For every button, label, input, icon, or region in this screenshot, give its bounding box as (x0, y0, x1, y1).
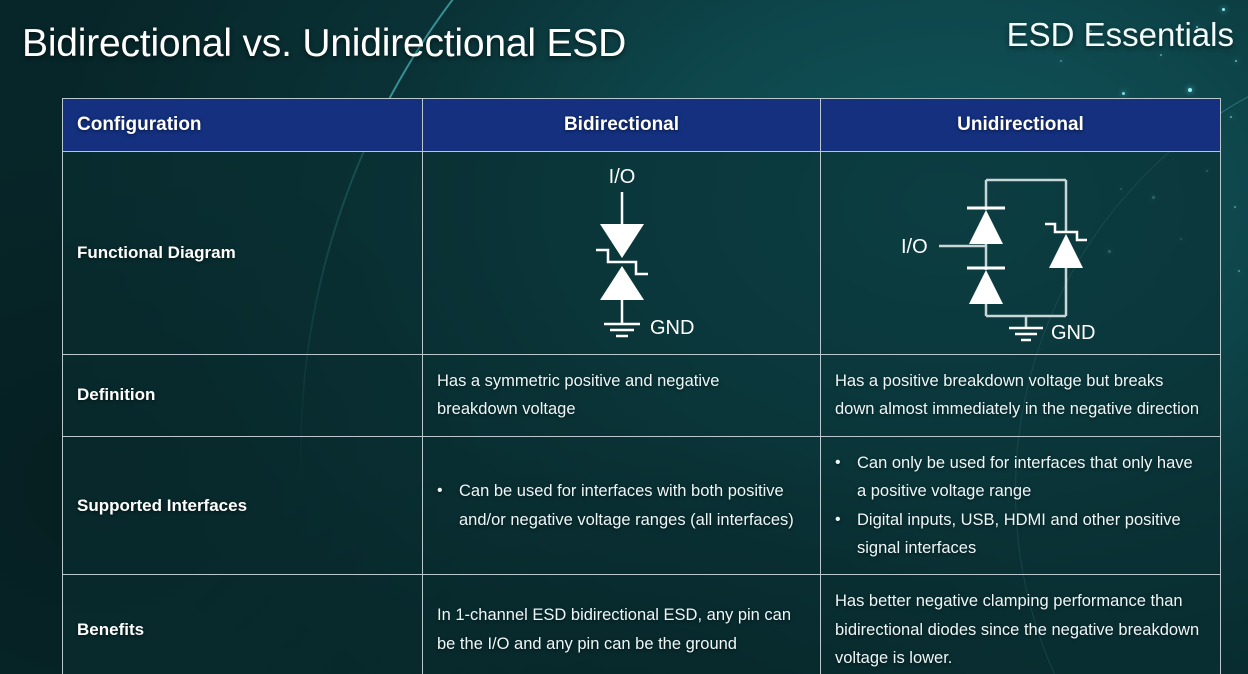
cell-bidirectional-diagram: I/O (423, 152, 821, 355)
io-label-text: I/O (901, 236, 928, 258)
cell-unidirectional-benefits: Has better negative clamping performance… (821, 575, 1221, 674)
row-label-definition: Definition (63, 355, 423, 437)
column-header-unidirectional: Unidirectional (821, 99, 1221, 152)
row-label-text: Supported Interfaces (63, 486, 422, 526)
bullet-list: Can only be used for interfaces that onl… (821, 437, 1220, 575)
page-title: Bidirectional vs. Unidirectional ESD (22, 22, 626, 66)
cell-unidirectional-definition: Has a positive breakdown voltage but bre… (821, 355, 1221, 437)
cell-bidirectional-supported-interfaces: Can be used for interfaces with both pos… (423, 436, 821, 575)
slide-root: Bidirectional vs. Unidirectional ESD ESD… (0, 0, 1248, 674)
table-header-row: Configuration Bidirectional Unidirection… (63, 99, 1221, 152)
cell-unidirectional-supported-interfaces: Can only be used for interfaces that onl… (821, 436, 1221, 575)
gnd-label-text: GND (650, 317, 694, 339)
cell-bidirectional-benefits: In 1-channel ESD bidirectional ESD, any … (423, 575, 821, 674)
row-label-text: Functional Diagram (63, 233, 422, 273)
cell-text: In 1-channel ESD bidirectional ESD, any … (423, 589, 820, 670)
column-header-bidirectional: Bidirectional (423, 99, 821, 152)
series-label: ESD Essentials (1007, 16, 1234, 54)
gnd-label-text: GND (1051, 322, 1095, 344)
cell-text: Has better negative clamping performance… (821, 575, 1220, 674)
cell-text: Has a positive breakdown voltage but bre… (821, 355, 1220, 436)
list-item: Can only be used for interfaces that onl… (855, 449, 1206, 506)
unidirectional-diode-network-icon: I/O GND (821, 158, 1220, 348)
table-row: Definition Has a symmetric positive and … (63, 355, 1221, 437)
row-label-text: Benefits (63, 610, 422, 650)
list-item: Can be used for interfaces with both pos… (457, 477, 806, 534)
row-label-benefits: Benefits (63, 575, 423, 674)
column-header-configuration: Configuration (63, 99, 423, 152)
table-body: Functional Diagram I/O (63, 152, 1221, 674)
cell-unidirectional-diagram: I/O GND (821, 152, 1221, 355)
comparison-table: Configuration Bidirectional Unidirection… (62, 98, 1221, 674)
cell-text: Has a symmetric positive and negative br… (423, 355, 820, 436)
io-label-text: I/O (608, 166, 635, 188)
table-row: Supported Interfaces Can be used for int… (63, 436, 1221, 575)
row-label-supported-interfaces: Supported Interfaces (63, 436, 423, 575)
bullet-list: Can be used for interfaces with both pos… (423, 465, 820, 546)
row-label-text: Definition (63, 375, 422, 415)
table-row: Benefits In 1-channel ESD bidirectional … (63, 575, 1221, 674)
list-item: Digital inputs, USB, HDMI and other posi… (855, 506, 1206, 563)
row-label-functional-diagram: Functional Diagram (63, 152, 423, 355)
bidirectional-tvs-diode-icon: I/O (423, 158, 820, 348)
cell-bidirectional-definition: Has a symmetric positive and negative br… (423, 355, 821, 437)
table-row: Functional Diagram I/O (63, 152, 1221, 355)
table-header: Configuration Bidirectional Unidirection… (63, 99, 1221, 152)
